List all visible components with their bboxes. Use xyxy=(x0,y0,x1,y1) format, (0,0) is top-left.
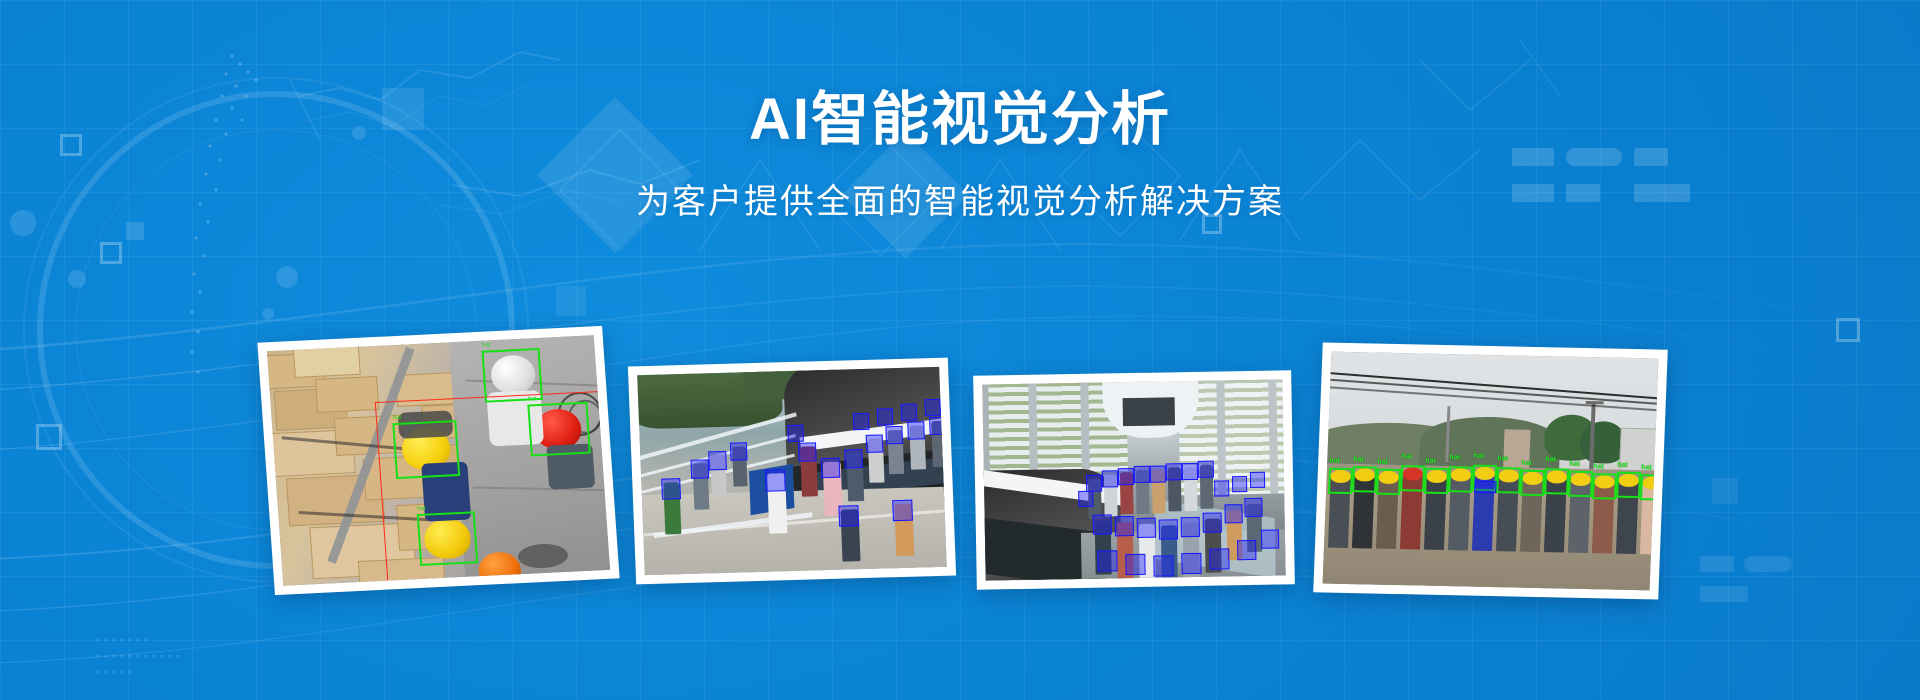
detection-label: hat xyxy=(1569,461,1580,469)
detection-box xyxy=(1134,466,1150,483)
detection-box xyxy=(853,413,870,430)
page-subtitle: 为客户提供全面的智能视觉分析解决方案 xyxy=(0,180,1920,224)
detection-box xyxy=(1474,481,1496,493)
detection-box xyxy=(1118,468,1134,485)
detection-box xyxy=(1616,472,1641,498)
detection-box xyxy=(1125,554,1145,575)
hero-copy: AI智能视觉分析 为客户提供全面的智能视觉分析解决方案 xyxy=(0,86,1920,225)
photo-gallery: hat hat hat hat xyxy=(0,320,1920,620)
detection-box xyxy=(787,425,804,442)
detection-box xyxy=(821,458,841,479)
detection-box xyxy=(929,417,947,435)
detection-box xyxy=(1496,467,1521,493)
detection-box xyxy=(1544,468,1569,494)
detection-box xyxy=(1097,550,1117,571)
scene-warehouse: hat hat hat hat xyxy=(267,335,610,585)
detection-label: hat xyxy=(1353,456,1364,464)
detection-box xyxy=(798,442,817,461)
detection-box xyxy=(838,505,859,527)
gallery-photo-warehouse[interactable]: hat hat hat hat xyxy=(257,326,619,595)
detection-box xyxy=(901,404,918,421)
detection-box xyxy=(892,500,913,522)
detection-box xyxy=(1150,465,1166,482)
detection-box xyxy=(1640,474,1658,500)
decor-square-filled-1 xyxy=(126,222,144,240)
detection-box xyxy=(392,420,460,479)
detection-box xyxy=(1261,529,1279,548)
detection-label: hat xyxy=(1521,460,1532,468)
detection-label: hat xyxy=(528,396,537,403)
detection-box xyxy=(1237,540,1256,560)
detection-box xyxy=(1181,517,1200,537)
detection-box xyxy=(885,426,903,444)
detection-box xyxy=(1250,472,1265,488)
detection-label: hat xyxy=(1641,464,1652,472)
detection-label: hat xyxy=(1377,459,1388,467)
detection-box xyxy=(924,399,941,416)
page-title: AI智能视觉分析 xyxy=(0,86,1920,154)
detection-box xyxy=(1424,468,1449,494)
detection-box xyxy=(1232,476,1247,492)
decor-square-outline-2 xyxy=(100,242,122,264)
detection-box xyxy=(1137,518,1156,538)
detection-box xyxy=(527,402,591,457)
detection-box xyxy=(1093,514,1112,534)
detection-box xyxy=(1592,473,1617,499)
detection-box xyxy=(877,408,894,425)
detection-box xyxy=(708,451,727,470)
scene-bridge xyxy=(637,367,947,575)
scene-platform xyxy=(982,379,1285,580)
detection-box xyxy=(1224,504,1242,523)
detection-box xyxy=(1153,555,1173,576)
detection-box xyxy=(661,478,681,500)
detection-box xyxy=(1203,512,1222,532)
detection-label: hat xyxy=(1449,454,1460,462)
detection-label: hat xyxy=(417,506,426,513)
detection-box xyxy=(907,421,925,439)
gallery-photo-platform[interactable] xyxy=(973,370,1295,590)
detection-label: hat xyxy=(1497,455,1508,463)
detection-box xyxy=(730,442,748,460)
detection-box xyxy=(765,469,786,492)
decor-circle-5 xyxy=(262,308,274,320)
detection-label: hat xyxy=(1329,458,1340,466)
detection-box xyxy=(1352,466,1377,492)
detection-label: hat xyxy=(482,342,491,349)
detection-box xyxy=(1078,491,1093,507)
detection-label: hat xyxy=(1425,458,1436,466)
detection-box xyxy=(1328,468,1353,494)
detection-box xyxy=(844,449,863,468)
detection-box xyxy=(1376,469,1401,495)
detection-box xyxy=(417,511,479,566)
detection-box xyxy=(1520,470,1545,496)
gallery-photo-bridge[interactable] xyxy=(628,358,956,585)
detection-box xyxy=(1244,498,1262,517)
detection-box xyxy=(1115,516,1134,536)
detection-box xyxy=(481,348,543,403)
decor-circle-3 xyxy=(68,270,86,288)
detection-label: hat xyxy=(1593,463,1604,471)
gallery-photo-outdoor[interactable]: hat hat hat hat hat hat hat hat xyxy=(1313,342,1668,599)
detection-box xyxy=(1181,553,1201,574)
detection-box xyxy=(1214,480,1229,496)
scene-outdoor: hat hat hat hat hat hat hat hat xyxy=(1323,352,1659,591)
detection-box xyxy=(943,424,946,441)
detection-box xyxy=(1166,463,1182,480)
detection-box xyxy=(1102,470,1118,487)
detection-box xyxy=(866,434,884,452)
detection-box xyxy=(1198,461,1214,478)
decor-square-filled-3 xyxy=(556,286,586,316)
detection-box xyxy=(690,459,709,478)
decor-circle-4 xyxy=(276,266,298,288)
detection-box xyxy=(1568,471,1593,497)
detection-box xyxy=(1182,463,1198,480)
detection-label: hat xyxy=(393,415,402,422)
detection-box xyxy=(1086,475,1102,492)
detection-box xyxy=(1209,548,1229,569)
detection-box xyxy=(1400,465,1425,491)
detection-label: hat xyxy=(1617,462,1628,470)
detection-label: hat xyxy=(1473,453,1484,461)
detection-label: hat xyxy=(1401,453,1412,461)
detection-box xyxy=(1159,519,1178,539)
detection-box xyxy=(1448,466,1473,492)
detection-label: hat xyxy=(1545,456,1556,464)
hero-banner: AI智能视觉分析 为客户提供全面的智能视觉分析解决方案 xyxy=(0,0,1920,700)
